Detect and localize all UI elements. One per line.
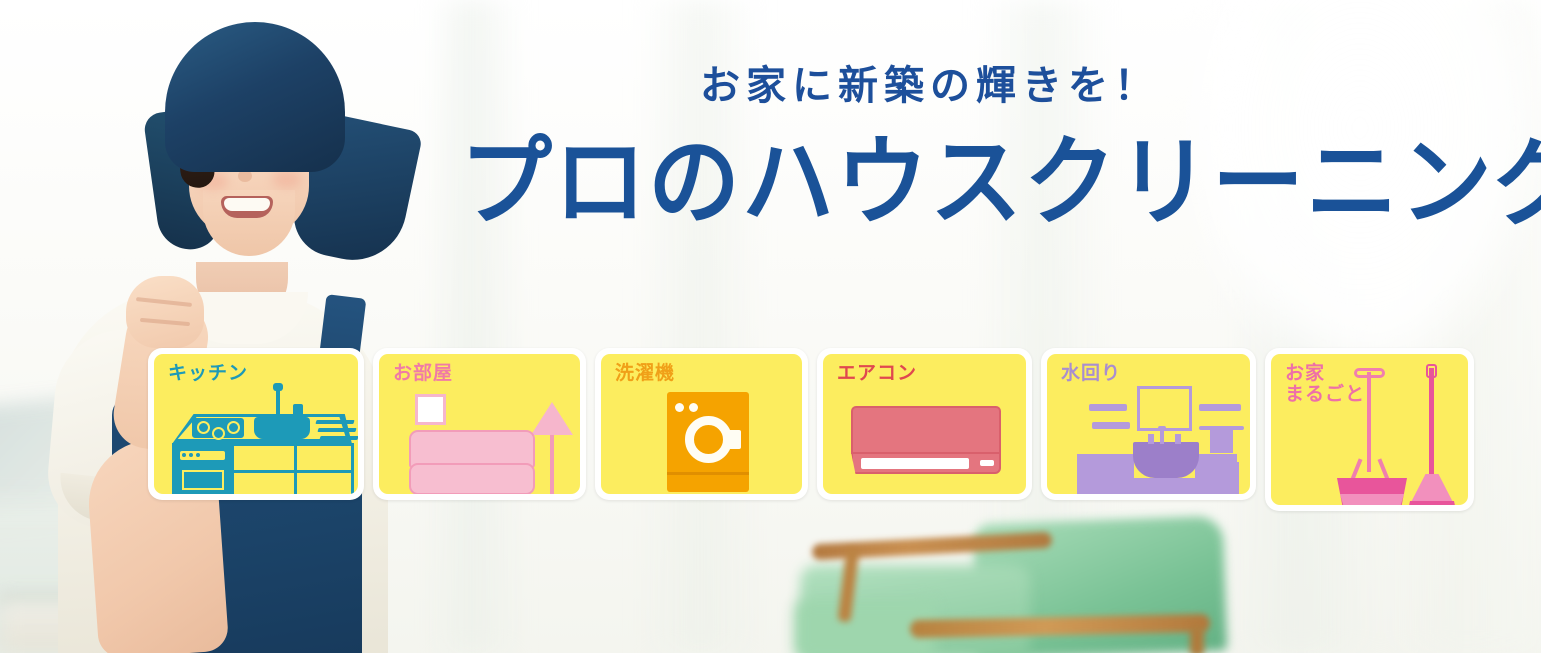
service-card-kitchen[interactable]: キッチン bbox=[148, 348, 364, 500]
card-surface: お部屋 bbox=[379, 354, 580, 494]
model-mouth bbox=[221, 196, 273, 218]
background-sofa-leg bbox=[1190, 626, 1204, 653]
service-card-label: 洗濯機 bbox=[615, 363, 675, 384]
service-card-label: お部屋 bbox=[393, 363, 453, 384]
card-surface: お家 まるごと bbox=[1271, 354, 1468, 505]
card-surface: エアコン bbox=[823, 354, 1026, 494]
model-cheek-right bbox=[272, 170, 302, 188]
service-card-label: お家 まるごと bbox=[1285, 363, 1365, 406]
service-card-washing-machine[interactable]: 洗濯機 bbox=[595, 348, 808, 500]
service-card-list: キッチン bbox=[148, 348, 1463, 514]
service-card-label: キッチン bbox=[168, 363, 248, 384]
card-surface: キッチン bbox=[154, 354, 358, 494]
service-card-whole-house[interactable]: お家 まるごと bbox=[1265, 348, 1474, 511]
service-card-air-conditioner[interactable]: エアコン bbox=[817, 348, 1032, 500]
card-surface: 水回り bbox=[1047, 354, 1250, 494]
service-card-room[interactable]: お部屋 bbox=[373, 348, 586, 500]
headline-block: お家に新築の輝きを！ プロのハウスクリーニング bbox=[460, 62, 1400, 233]
service-card-label: エアコン bbox=[837, 363, 917, 384]
model-teeth bbox=[224, 198, 270, 211]
service-card-water-areas[interactable]: 水回り bbox=[1041, 348, 1256, 500]
banner-subheadline: お家に新築の輝きを！ bbox=[460, 62, 1400, 110]
model-bandana bbox=[165, 22, 345, 172]
model-fist bbox=[126, 276, 204, 348]
card-surface: 洗濯機 bbox=[601, 354, 802, 494]
service-card-label: 水回り bbox=[1061, 363, 1121, 384]
hero-banner: お家に新築の輝きを！ プロのハウスクリーニング キッチン bbox=[0, 0, 1541, 653]
banner-headline: プロのハウスクリーニング bbox=[460, 131, 1400, 236]
model-photo bbox=[0, 0, 480, 653]
